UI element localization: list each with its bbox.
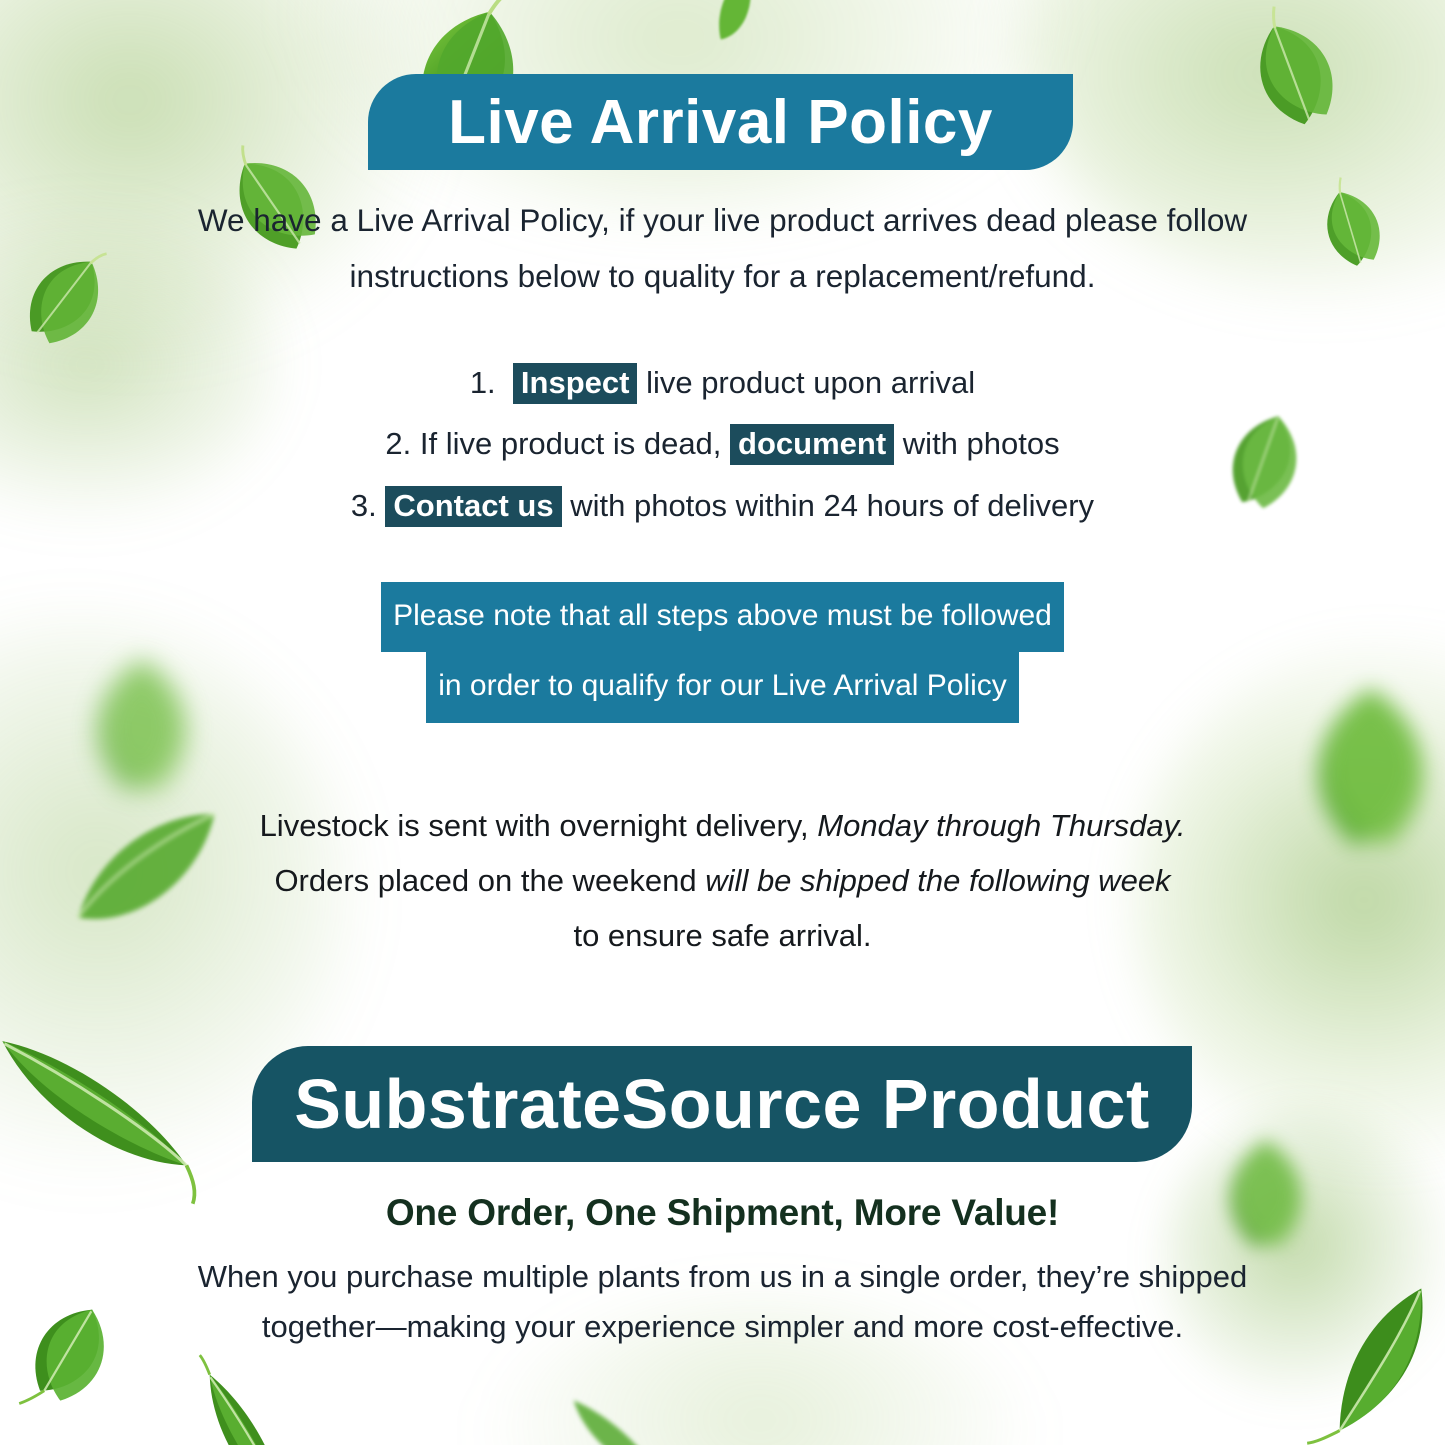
- policy-note-line-1: Please note that all steps above must be…: [381, 582, 1064, 652]
- live-arrival-policy-banner-title: Live Arrival Policy: [448, 87, 993, 158]
- step-3-after: with photos within 24 hours of delivery: [570, 488, 1094, 523]
- step-3-highlight: Contact us: [385, 486, 561, 527]
- shipping-line-2-italic: will be shipped the following week: [705, 863, 1170, 898]
- step-3-number: 3.: [351, 488, 377, 523]
- outro-line-1: When you purchase multiple plants from u…: [130, 1252, 1315, 1302]
- value-proposition-paragraph: When you purchase multiple plants from u…: [130, 1252, 1315, 1352]
- step-2-number: 2.: [385, 426, 411, 461]
- shipping-line-2-plain: Orders placed on the weekend: [274, 863, 696, 898]
- shipping-line-1: Livestock is sent with overnight deliver…: [150, 798, 1295, 853]
- step-2-before: If live product is dead,: [420, 426, 722, 461]
- step-item-3: 3. Contact us with photos within 24 hour…: [150, 475, 1295, 536]
- content-layer: Live Arrival Policy We have a Live Arriv…: [0, 0, 1445, 1445]
- step-2-highlight: document: [730, 424, 894, 465]
- intro-line-1: We have a Live Arrival Policy, if your l…: [150, 192, 1295, 248]
- intro-line-2: instructions below to quality for a repl…: [150, 248, 1295, 304]
- step-1-number: 1.: [470, 365, 496, 400]
- live-arrival-policy-infographic: Live Arrival Policy We have a Live Arriv…: [0, 0, 1445, 1445]
- step-item-2: 2. If live product is dead, document wit…: [150, 413, 1295, 474]
- substrate-source-product-banner: SubstrateSource Product: [252, 1046, 1192, 1162]
- shipping-line-1-plain: Livestock is sent with overnight deliver…: [260, 808, 809, 843]
- outro-line-2: together—making your experience simpler …: [130, 1302, 1315, 1352]
- step-1-after: live product upon arrival: [646, 365, 975, 400]
- intro-paragraph: We have a Live Arrival Policy, if your l…: [150, 192, 1295, 304]
- policy-note: Please note that all steps above must be…: [150, 582, 1295, 723]
- step-item-1: 1. Inspect live product upon arrival: [150, 352, 1295, 413]
- shipping-line-2: Orders placed on the weekend will be shi…: [150, 853, 1295, 908]
- shipping-schedule-paragraph: Livestock is sent with overnight deliver…: [150, 798, 1295, 964]
- substrate-source-product-banner-title: SubstrateSource Product: [294, 1064, 1150, 1144]
- value-proposition-subheading: One Order, One Shipment, More Value!: [150, 1192, 1295, 1234]
- step-1-highlight: Inspect: [513, 363, 638, 404]
- policy-note-line-2: in order to qualify for our Live Arrival…: [426, 652, 1019, 722]
- step-2-after: with photos: [903, 426, 1060, 461]
- shipping-line-3: to ensure safe arrival.: [150, 908, 1295, 963]
- live-arrival-policy-banner: Live Arrival Policy: [368, 74, 1073, 170]
- steps-list: 1. Inspect live product upon arrival 2. …: [150, 352, 1295, 536]
- shipping-line-1-italic: Monday through Thursday.: [817, 808, 1185, 843]
